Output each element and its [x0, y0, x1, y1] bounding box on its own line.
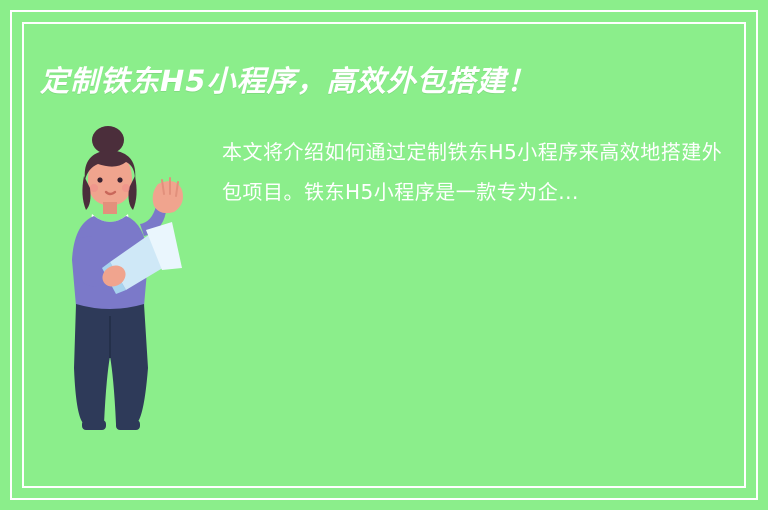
woman-with-megaphone-illustration — [40, 118, 220, 438]
promo-card: 定制铁东H5小程序，高效外包搭建！ — [0, 0, 768, 510]
page-title: 定制铁东H5小程序，高效外包搭建！ — [40, 58, 730, 100]
card-body-text: 本文将介绍如何通过定制铁东H5小程序来高效地搭建外包项目。铁东H5小程序是一款专… — [222, 132, 736, 212]
